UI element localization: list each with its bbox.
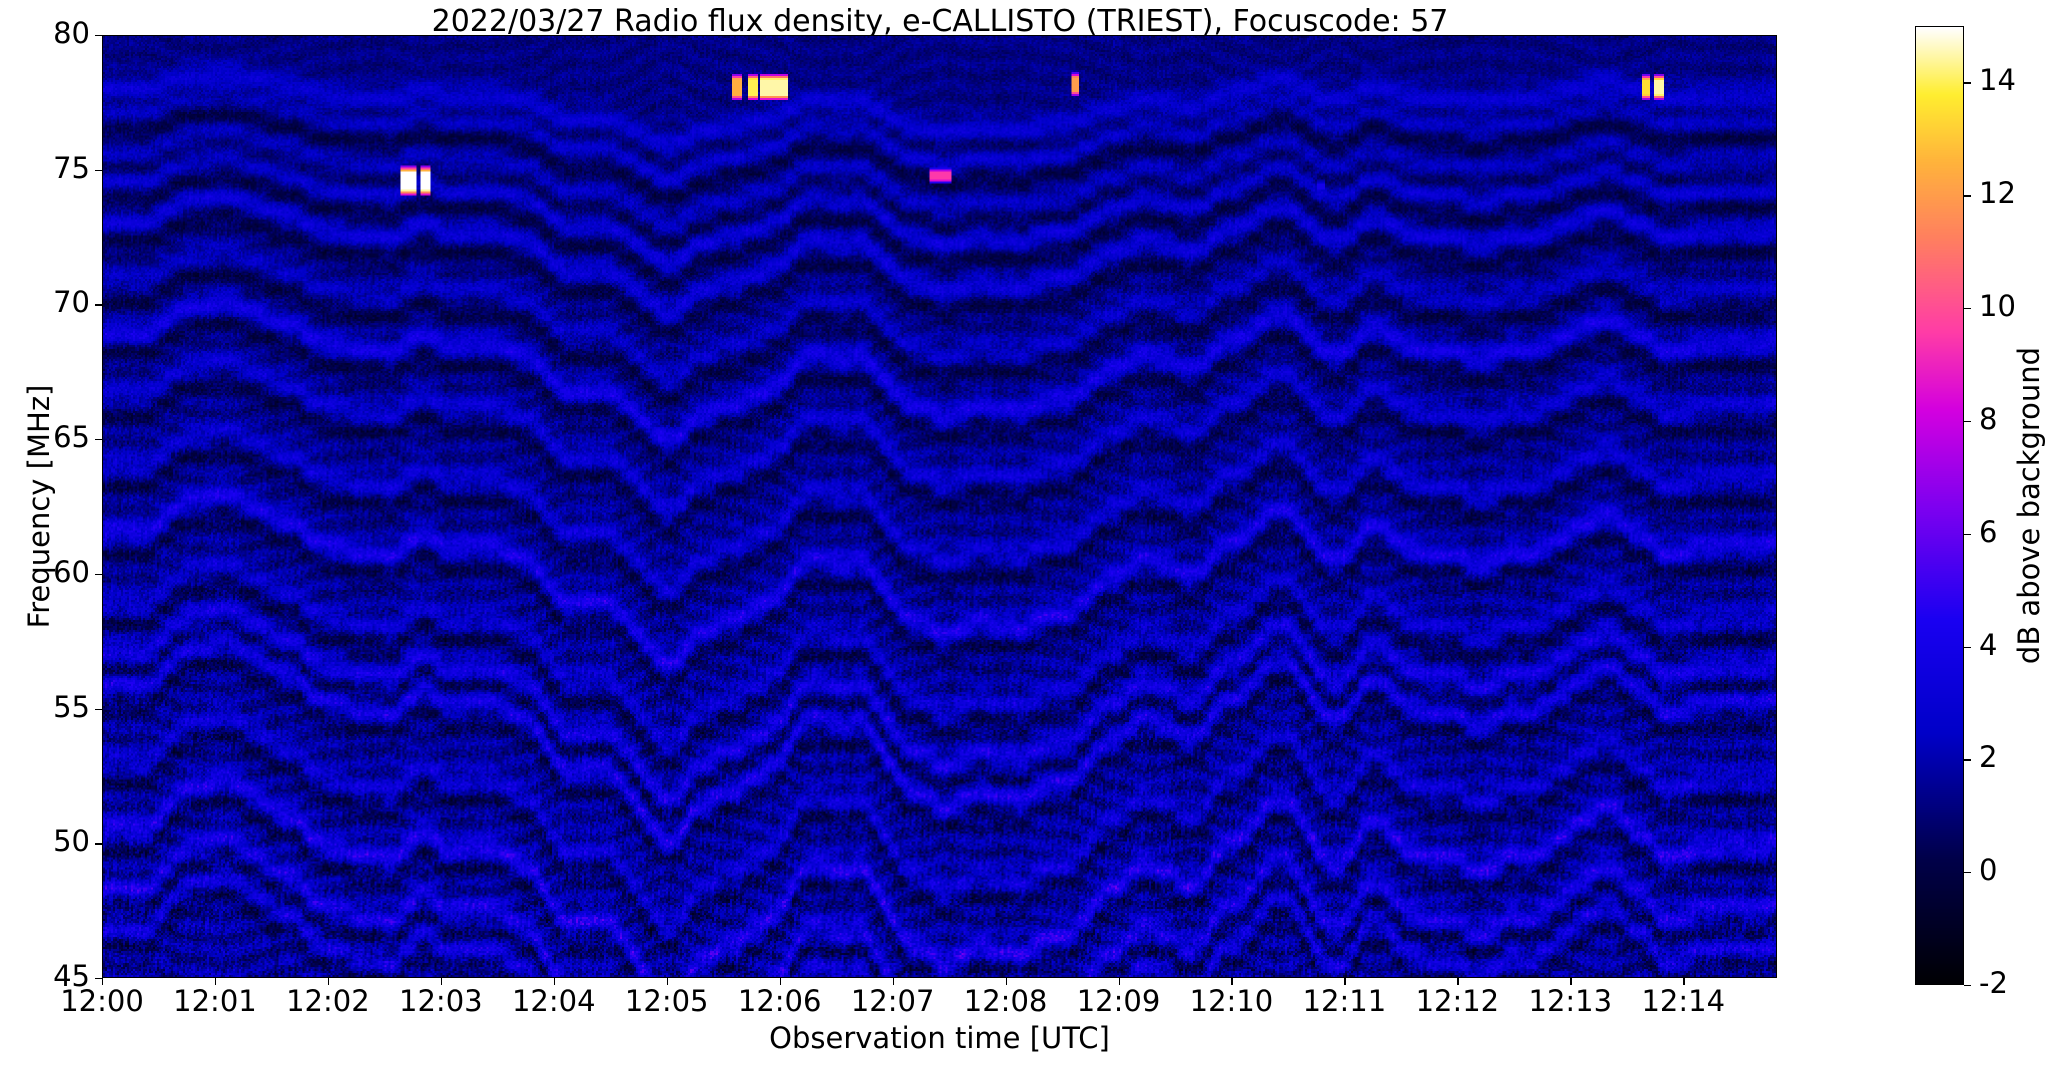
colorbar-tick-mark [1964, 195, 1971, 196]
y-tick-mark [95, 978, 102, 979]
y-tick-mark [95, 574, 102, 575]
chart-title: 2022/03/27 Radio flux density, e-CALLIST… [102, 4, 1778, 39]
x-tick-mark [1006, 978, 1007, 985]
colorbar-tick-label: 4 [1979, 628, 1997, 662]
figure-canvas: 2022/03/27 Radio flux density, e-CALLIST… [0, 0, 2047, 1067]
y-tick-label: 50 [6, 824, 90, 858]
x-tick-mark [893, 978, 894, 985]
colorbar-tick-label: 12 [1979, 176, 2016, 210]
x-tick-mark [328, 978, 329, 985]
colorbar-tick-mark [1964, 421, 1971, 422]
x-tick-mark [1683, 978, 1684, 985]
x-tick-mark [667, 978, 668, 985]
y-tick-label: 70 [6, 285, 90, 319]
y-tick-mark [95, 843, 102, 844]
y-tick-label: 75 [6, 151, 90, 185]
colorbar-tick-mark [1964, 82, 1971, 83]
x-tick-mark [1119, 978, 1120, 985]
spectrogram-image [103, 36, 1776, 977]
x-axis-label: Observation time [UTC] [102, 1021, 1777, 1055]
colorbar-gradient [1916, 27, 1963, 984]
x-tick-mark [780, 978, 781, 985]
colorbar[interactable] [1915, 26, 1964, 985]
colorbar-tick-mark [1964, 872, 1971, 873]
y-tick-mark [95, 170, 102, 171]
y-tick-label: 55 [6, 690, 90, 724]
colorbar-tick-label: 8 [1979, 402, 1997, 436]
colorbar-label: dB above background [2012, 26, 2047, 985]
colorbar-tick-label: 10 [1979, 289, 2016, 323]
x-tick-mark [554, 978, 555, 985]
y-tick-mark [95, 304, 102, 305]
y-tick-mark [95, 35, 102, 36]
y-tick-label: 65 [6, 420, 90, 454]
x-tick-mark [102, 978, 103, 985]
y-tick-mark [95, 709, 102, 710]
x-tick-mark [441, 978, 442, 985]
y-tick-label: 80 [6, 16, 90, 50]
colorbar-tick-label: 2 [1979, 740, 1997, 774]
colorbar-tick-label: 0 [1979, 853, 1997, 887]
x-tick-mark [1570, 978, 1571, 985]
colorbar-tick-mark [1964, 647, 1971, 648]
colorbar-tick-label: 14 [1979, 63, 2016, 97]
x-tick-label: 12:14 [1613, 984, 1753, 1018]
colorbar-tick-label: -2 [1979, 966, 2008, 1000]
colorbar-tick-mark [1964, 308, 1971, 309]
x-tick-mark [215, 978, 216, 985]
x-tick-mark [1457, 978, 1458, 985]
y-tick-mark [95, 439, 102, 440]
x-tick-mark [1344, 978, 1345, 985]
colorbar-tick-mark [1964, 985, 1971, 986]
x-tick-mark [1231, 978, 1232, 985]
spectrogram-axes[interactable] [102, 35, 1777, 978]
y-tick-label: 60 [6, 555, 90, 589]
colorbar-tick-mark [1964, 534, 1971, 535]
colorbar-tick-label: 6 [1979, 515, 1997, 549]
colorbar-tick-mark [1964, 759, 1971, 760]
